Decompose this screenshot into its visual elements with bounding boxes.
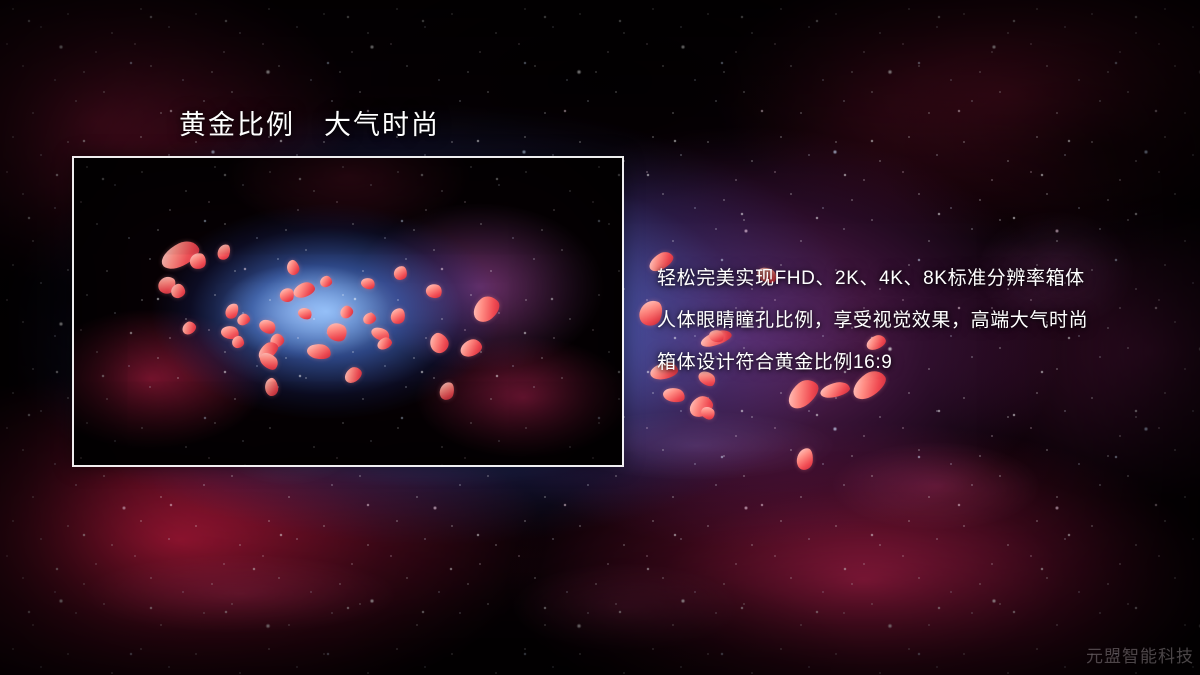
page-title: 黄金比例 大气时尚 (179, 103, 440, 142)
description-line: 人体眼睛瞳孔比例，享受视觉效果，高端大气时尚 (657, 300, 1177, 342)
display-panel-content (74, 158, 622, 465)
description-line: 轻松完美实现FHD、2K、4K、8K标准分辨率箱体 (657, 258, 1177, 300)
watermark: 元盟智能科技 (1086, 642, 1194, 667)
description-block: 轻松完美实现FHD、2K、4K、8K标准分辨率箱体 人体眼睛瞳孔比例，享受视觉效… (657, 258, 1177, 384)
slide-canvas: 黄金比例 大气时尚 轻松完美实现FHD、2K、4K、8K标准分辨率箱体 人体眼睛… (0, 0, 1200, 675)
description-line: 箱体设计符合黄金比例16:9 (657, 342, 1177, 384)
display-panel-frame (72, 156, 624, 467)
panel-vignette (74, 158, 622, 465)
